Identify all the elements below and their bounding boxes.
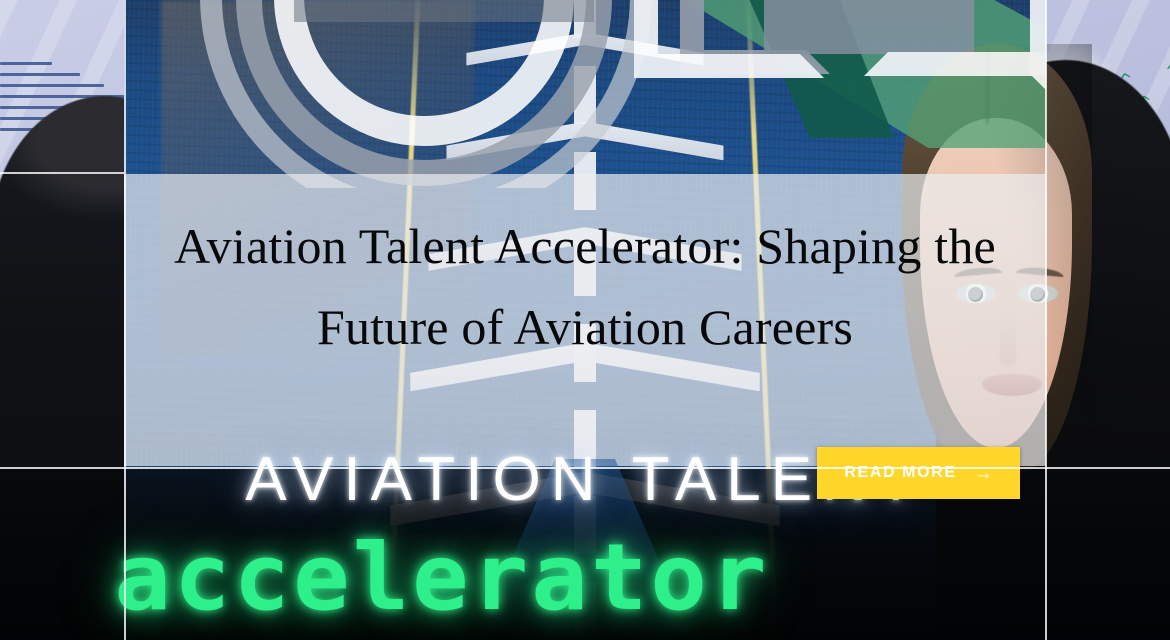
grid-divider-vertical-left — [124, 0, 126, 640]
page-title: Aviation Talent Accelerator: Shaping the… — [150, 206, 1020, 368]
logo-bracket — [864, 0, 1046, 76]
logo-block — [294, 0, 594, 22]
grid-divider-horizontal — [0, 467, 1170, 469]
hero-banner: ^ ^ ^ ^ ^ ^ ^ ^ ^ ^ ^ ^ ^ ^ ^ ^ ^ ^ ^ ^ … — [0, 0, 1170, 640]
read-more-button[interactable]: READ MORE → — [817, 447, 1020, 499]
wordmark-line-accelerator: accelerator — [114, 524, 1093, 631]
grid-divider-vertical-right — [1045, 0, 1047, 640]
brand-logo-overlay — [124, 0, 1046, 188]
grid-divider-horizontal-left — [0, 172, 124, 174]
